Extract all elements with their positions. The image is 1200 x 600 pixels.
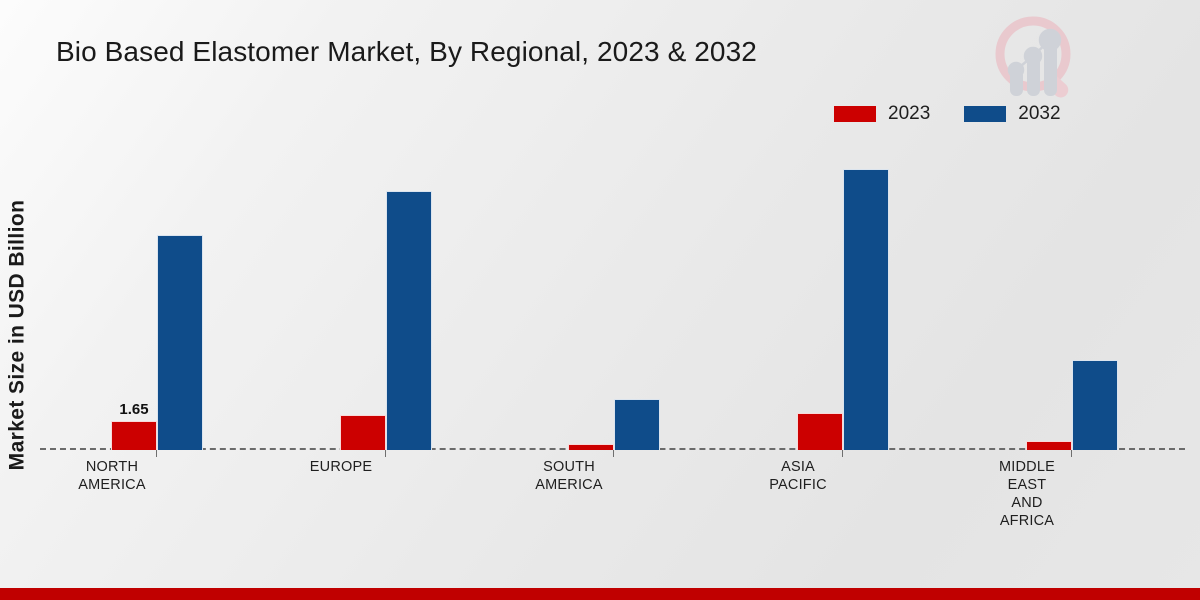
bar-2023[interactable] bbox=[111, 421, 157, 450]
bar-group: 1.65 bbox=[111, 150, 203, 450]
category-label-line: EAST bbox=[952, 476, 1102, 494]
category-label-line: SOUTH bbox=[494, 458, 644, 476]
bar-chart-icon bbox=[1010, 42, 1057, 96]
bar-pair bbox=[340, 150, 432, 450]
x-axis-category-label: SOUTHAMERICA bbox=[494, 458, 644, 494]
chart-title: Bio Based Elastomer Market, By Regional,… bbox=[56, 36, 757, 68]
bar-value-label: 1.65 bbox=[109, 401, 159, 418]
category-label-line: AMERICA bbox=[37, 476, 187, 494]
y-axis-title: Market Size in USD Billion bbox=[0, 170, 34, 500]
legend-item-2023[interactable]: 2023 bbox=[834, 104, 930, 123]
bar-pair bbox=[797, 150, 889, 450]
watermark-logo bbox=[978, 8, 1090, 112]
x-axis-category-label: ASIAPACIFIC bbox=[723, 458, 873, 494]
category-label-line: AMERICA bbox=[494, 476, 644, 494]
bar-2032[interactable] bbox=[157, 235, 203, 450]
category-label-line: MIDDLE bbox=[952, 458, 1102, 476]
bar-2032[interactable] bbox=[614, 399, 660, 450]
legend-label-2032: 2032 bbox=[1018, 104, 1060, 123]
bar-2032[interactable] bbox=[386, 191, 432, 450]
axis-tick bbox=[842, 450, 843, 457]
trend-dots-icon bbox=[1009, 30, 1060, 77]
category-label-line: ASIA bbox=[723, 458, 873, 476]
x-axis-category-label: MIDDLEEASTANDAFRICA bbox=[952, 458, 1102, 530]
x-axis-category-label: NORTHAMERICA bbox=[37, 458, 187, 494]
axis-tick bbox=[156, 450, 157, 457]
legend-swatch-2032 bbox=[964, 106, 1006, 122]
axis-tick bbox=[1071, 450, 1072, 457]
axis-tick bbox=[613, 450, 614, 457]
bar-2023[interactable] bbox=[340, 415, 386, 450]
chart-legend: 2023 2032 bbox=[834, 104, 1061, 123]
legend-swatch-2023 bbox=[834, 106, 876, 122]
legend-item-2032[interactable]: 2032 bbox=[964, 104, 1060, 123]
bar-group bbox=[568, 150, 660, 450]
axis-tick bbox=[385, 450, 386, 457]
category-label-line: EUROPE bbox=[266, 458, 416, 476]
chart-container: Bio Based Elastomer Market, By Regional,… bbox=[0, 0, 1200, 600]
magnifier-icon bbox=[1000, 21, 1071, 101]
footer-accent-bar bbox=[0, 588, 1200, 600]
bar-2023[interactable] bbox=[797, 413, 843, 450]
bar-2023[interactable] bbox=[1026, 441, 1072, 450]
y-axis-title-text: Market Size in USD Billion bbox=[5, 200, 29, 471]
category-label-line: NORTH bbox=[37, 458, 187, 476]
category-label-line: PACIFIC bbox=[723, 476, 873, 494]
legend-label-2023: 2023 bbox=[888, 104, 930, 123]
plot-area: 1.65 bbox=[40, 150, 1185, 450]
bar-group bbox=[797, 150, 889, 450]
bar-pair bbox=[568, 150, 660, 450]
bar-group bbox=[1026, 150, 1118, 450]
bar-2032[interactable] bbox=[843, 169, 889, 450]
category-label-line: AND bbox=[952, 494, 1102, 512]
bar-2032[interactable] bbox=[1072, 360, 1118, 450]
bar-group bbox=[340, 150, 432, 450]
x-axis-category-label: EUROPE bbox=[266, 458, 416, 476]
bar-pair bbox=[1026, 150, 1118, 450]
bar-2023[interactable] bbox=[568, 444, 614, 450]
category-label-line: AFRICA bbox=[952, 512, 1102, 530]
